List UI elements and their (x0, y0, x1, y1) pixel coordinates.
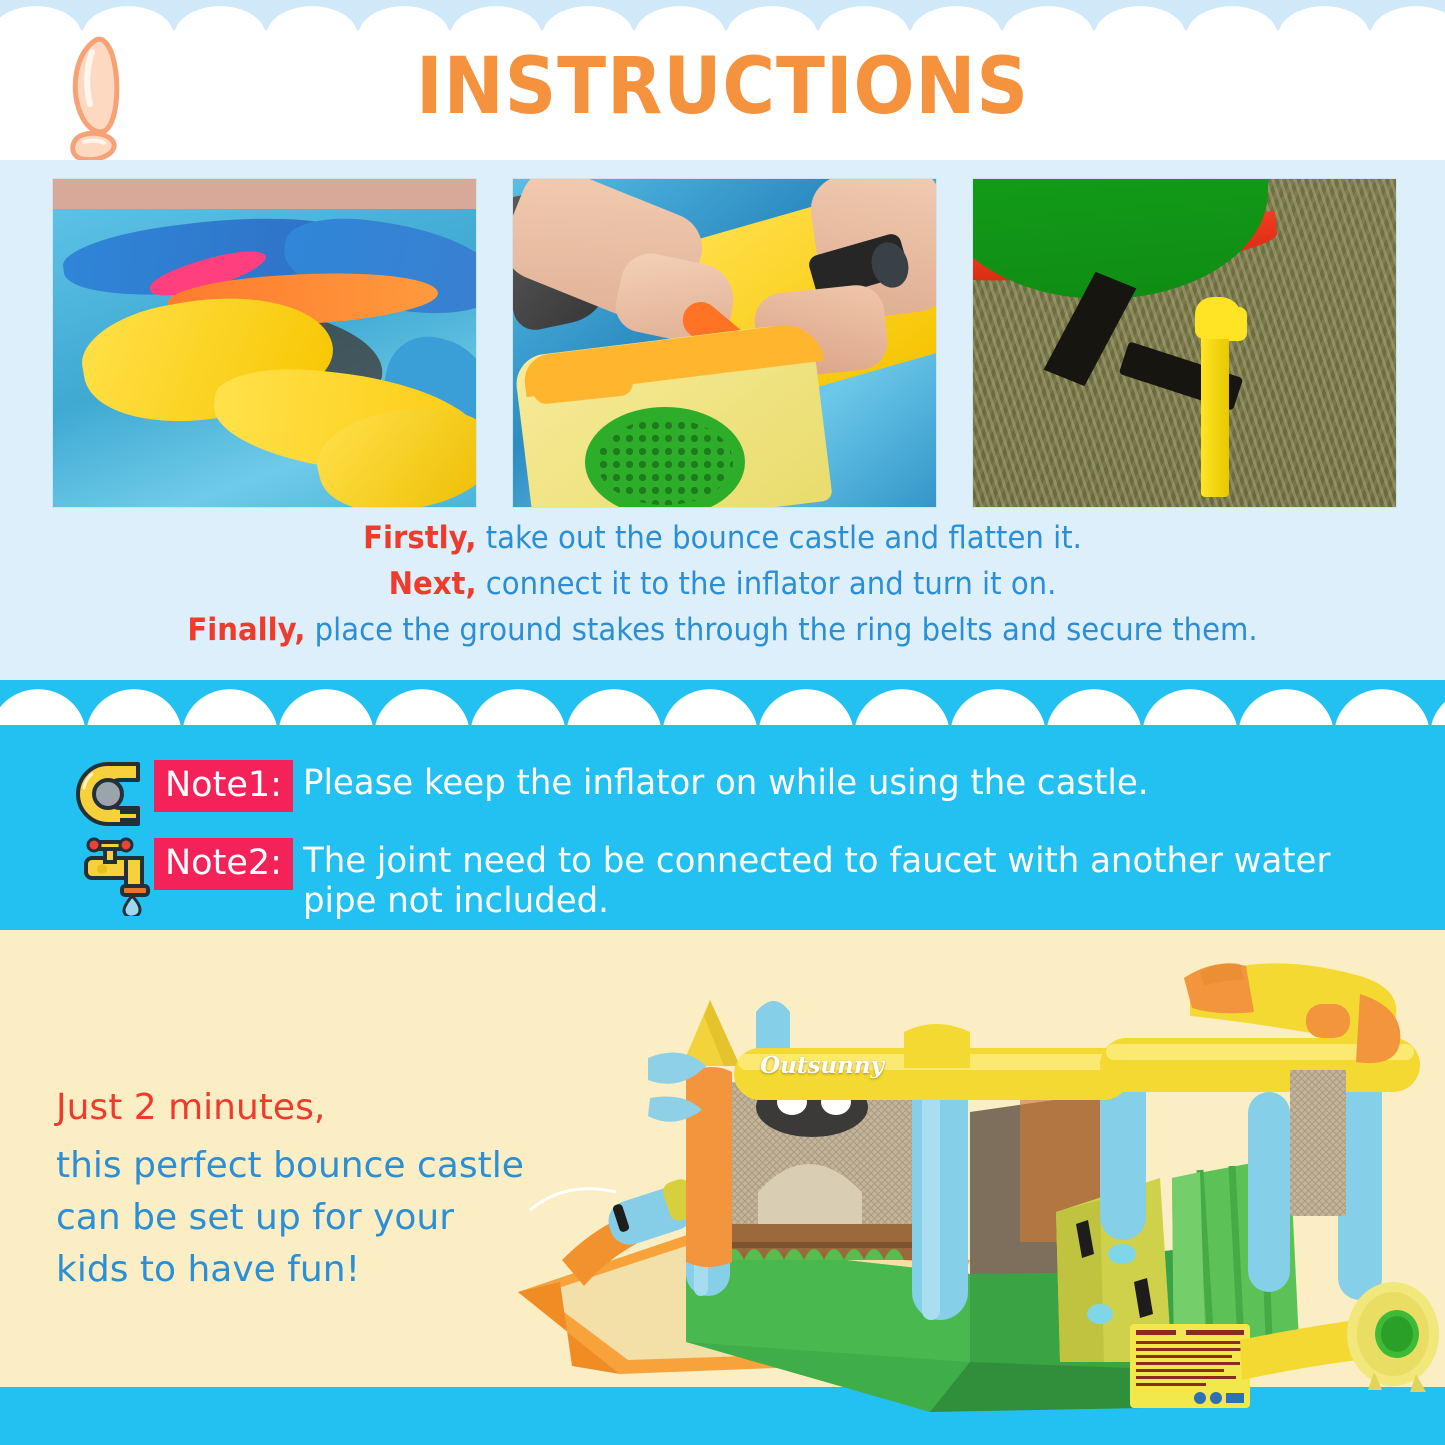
instructions-infographic: INSTRUCTIONS (0, 0, 1445, 1445)
step-2: Next, connect it to the inflator and tur… (43, 561, 1401, 607)
step-2-text: connect it to the inflator and turn it o… (477, 566, 1057, 602)
scallop-teeth (0, 0, 1445, 30)
step-1: Firstly, take out the bounce castle and … (43, 515, 1401, 561)
promo-line-2: can be set up for your (56, 1197, 454, 1238)
photo-deflated-bounce-castle-on-tarp (52, 178, 477, 508)
step-1-text: take out the bounce castle and flatten i… (476, 520, 1081, 556)
step-3-text: place the ground stakes through the ring… (305, 612, 1257, 648)
page-title: INSTRUCTIONS (58, 42, 1387, 132)
step-3: Finally, place the ground stakes through… (43, 607, 1401, 653)
product-bounce-castle-image (500, 942, 1445, 1412)
note-1-badge: Note1: (154, 760, 293, 812)
brand-logo: Outsunny (742, 1052, 902, 1079)
notes-top-scallop (0, 679, 1445, 725)
header: INSTRUCTIONS (0, 0, 1445, 172)
top-scallop-divider (0, 0, 1445, 30)
photo-connecting-inflator (512, 178, 937, 508)
faucet-water-drop-icon (72, 836, 154, 916)
note-row-2: Note2: The joint need to be connected to… (72, 836, 1393, 921)
steps-list: Firstly, take out the bounce castle and … (0, 515, 1445, 653)
note-2-badge: Note2: (154, 838, 293, 890)
note-row-1: Note1: Please keep the inflator on while… (72, 758, 1175, 838)
note-2-text: The joint need to be connected to faucet… (303, 841, 1360, 921)
note-1-text: Please keep the inflator on while using … (303, 763, 1149, 803)
promo-line-3: kids to have fun! (56, 1249, 360, 1290)
step-2-keyword: Next, (389, 566, 477, 602)
tape-measure-icon (72, 758, 154, 838)
step-3-keyword: Finally, (187, 612, 305, 648)
photo-ground-stake-through-ring-belt (972, 178, 1397, 508)
photos-row (52, 178, 1397, 508)
promo-line-1: this perfect bounce castle (56, 1145, 524, 1186)
step-1-keyword: Firstly, (363, 520, 476, 556)
photos-panel: Firstly, take out the bounce castle and … (0, 160, 1445, 680)
